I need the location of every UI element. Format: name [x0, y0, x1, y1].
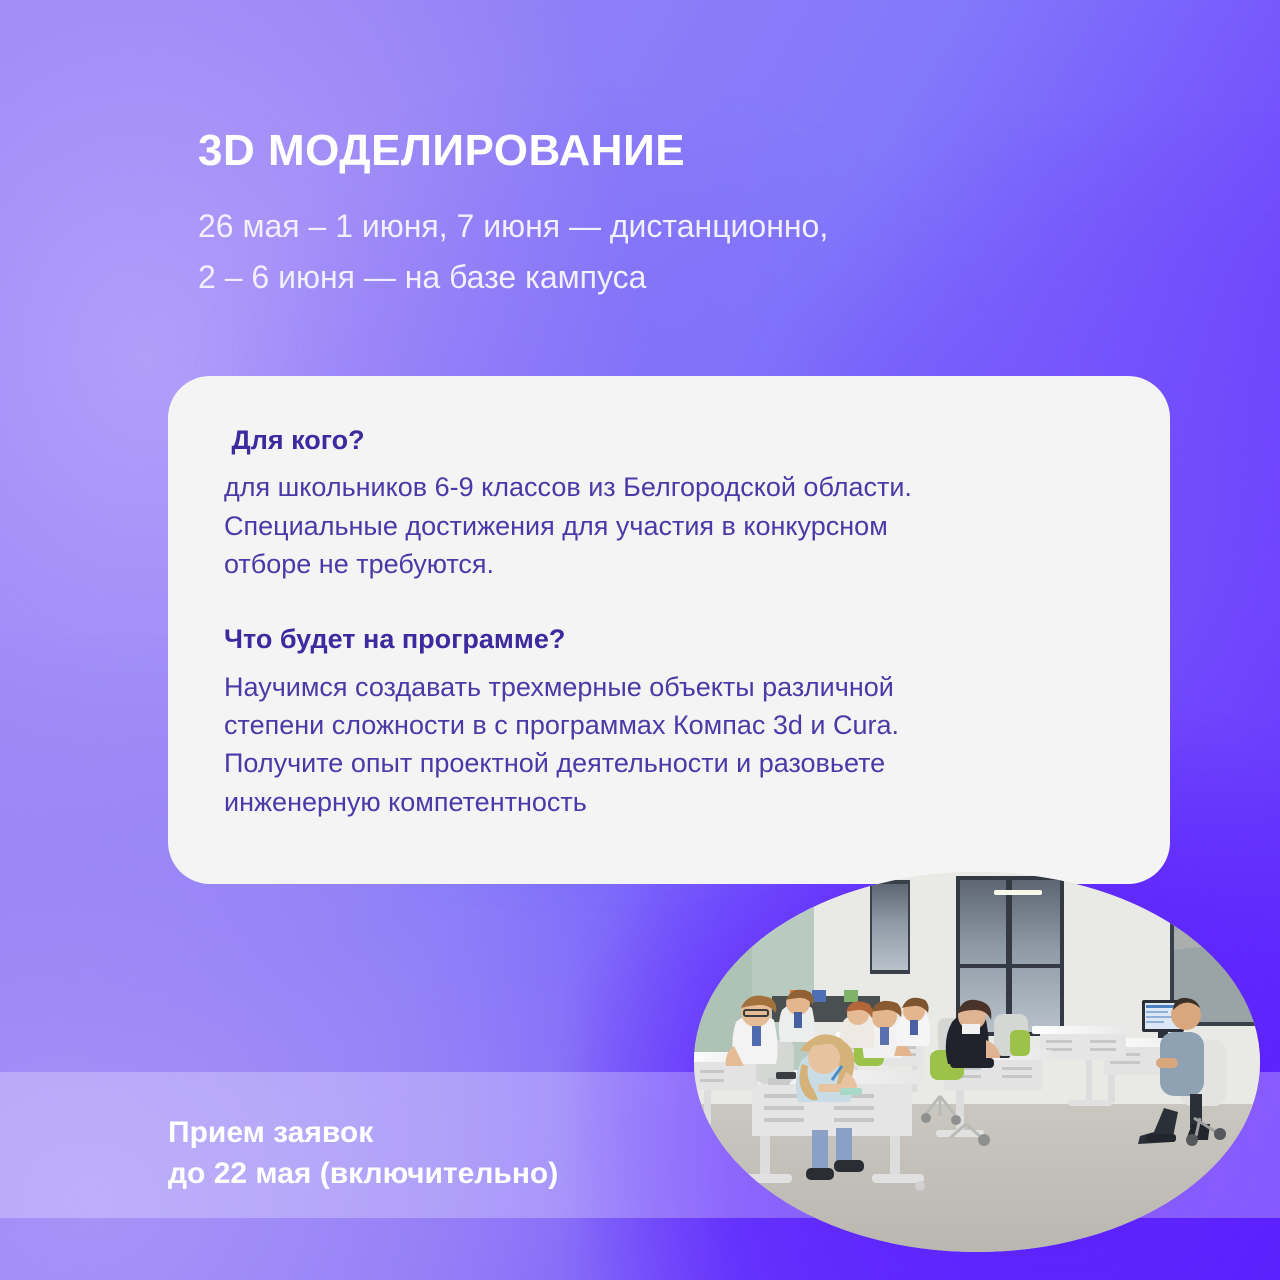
- program-dates-line-1: 26 мая – 1 июня, 7 июня — дистанционно,: [198, 201, 1118, 253]
- section-audience: Для кого? для школьников 6-9 классов из …: [224, 424, 1114, 583]
- section-program-heading: Что будет на программе?: [224, 623, 1114, 655]
- section-program-line-3: Получите опыт проектной деятельности и р…: [224, 744, 1114, 782]
- deadline-text: Прием заявок до 22 мая (включительно): [168, 1112, 558, 1195]
- section-audience-line-2: Специальные достижения для участия в кон…: [224, 507, 1114, 545]
- section-program-line-4: инженерную компетентность: [224, 783, 1114, 821]
- section-audience-body: для школьников 6-9 классов из Белгородск…: [224, 468, 1114, 583]
- promo-poster: 3D МОДЕЛИРОВАНИЕ 26 мая – 1 июня, 7 июня…: [0, 0, 1280, 1280]
- section-program-line-1: Научимся создавать трехмерные объекты ра…: [224, 668, 1114, 706]
- section-program-body: Научимся создавать трехмерные объекты ра…: [224, 668, 1114, 821]
- section-program: Что будет на программе? Научимся создава…: [224, 623, 1114, 821]
- section-program-line-2: степени сложности в с программах Компас …: [224, 706, 1114, 744]
- section-audience-line-1: для школьников 6-9 классов из Белгородск…: [224, 468, 1114, 506]
- section-audience-heading: Для кого?: [224, 424, 1114, 456]
- program-dates-line-2: 2 – 6 июня — на базе кампуса: [198, 252, 1118, 304]
- program-dates: 26 мая – 1 июня, 7 июня — дистанционно, …: [198, 201, 1118, 305]
- classroom-photo-illustration: [694, 872, 1260, 1252]
- poster-header: 3D МОДЕЛИРОВАНИЕ 26 мая – 1 июня, 7 июня…: [198, 128, 1118, 304]
- info-card: Для кого? для школьников 6-9 классов из …: [168, 376, 1170, 884]
- classroom-photo: [694, 872, 1260, 1252]
- deadline-line-2: до 22 мая (включительно): [168, 1153, 558, 1194]
- section-audience-line-3: отборе не требуются.: [224, 545, 1114, 583]
- deadline-line-1: Прием заявок: [168, 1112, 558, 1153]
- page-title: 3D МОДЕЛИРОВАНИЕ: [198, 128, 1118, 175]
